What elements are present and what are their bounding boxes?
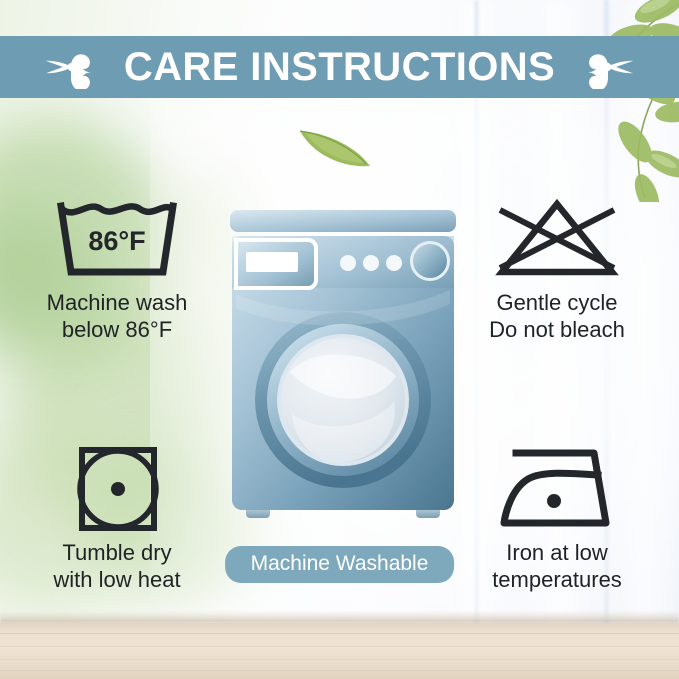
care-label-line-1: Iron at low <box>506 540 608 565</box>
washer-display <box>246 252 298 272</box>
leaf-branch-icon <box>535 0 679 202</box>
care-label-line-2: below 86°F <box>47 317 188 344</box>
fleur-de-lis-icon <box>581 45 635 89</box>
care-label-iron: Iron at low temperatures <box>492 540 622 594</box>
care-label-tumble-dry: Tumble dry with low heat <box>53 540 180 594</box>
wooden-table-surface <box>0 623 679 679</box>
care-label-line-2: with low heat <box>53 567 180 594</box>
care-label-line-2: Do not bleach <box>489 317 625 344</box>
washer-button <box>386 255 402 271</box>
washer-knob <box>413 244 447 278</box>
floating-leaf-icon <box>296 122 374 170</box>
machine-washable-badge: Machine Washable <box>225 546 455 583</box>
care-item-tumble-dry: Tumble dry with low heat <box>12 446 222 594</box>
care-item-do-not-bleach: Gentle cycle Do not bleach <box>452 196 662 344</box>
page-title: CARE INSTRUCTIONS <box>124 47 555 87</box>
washer-lid <box>230 210 456 232</box>
iron-icon <box>494 446 620 532</box>
care-label-do-not-bleach: Gentle cycle Do not bleach <box>489 290 625 344</box>
table-edge <box>0 611 679 623</box>
care-item-iron: Iron at low temperatures <box>452 446 662 594</box>
care-label-line-1: Tumble dry <box>62 540 171 565</box>
fleur-de-lis-icon <box>44 45 98 89</box>
care-instructions-graphic: CARE INSTRUCTIONS 86°F Machine wash belo… <box>0 0 679 679</box>
washer-button <box>340 255 356 271</box>
header-banner: CARE INSTRUCTIONS <box>0 36 679 98</box>
care-label-machine-wash: Machine wash below 86°F <box>47 290 188 344</box>
care-label-line-1: Gentle cycle <box>496 290 617 315</box>
washing-machine-illustration <box>228 208 458 538</box>
washtub-icon: 86°F <box>53 196 181 282</box>
care-label-line-1: Machine wash <box>47 290 188 315</box>
care-label-line-2: temperatures <box>492 567 622 594</box>
washtub-temperature-text: 86°F <box>88 226 145 256</box>
care-item-machine-wash: 86°F Machine wash below 86°F <box>12 196 222 344</box>
do-not-bleach-icon <box>492 196 622 282</box>
tumble-dry-icon <box>68 446 166 532</box>
washer-button <box>363 255 379 271</box>
